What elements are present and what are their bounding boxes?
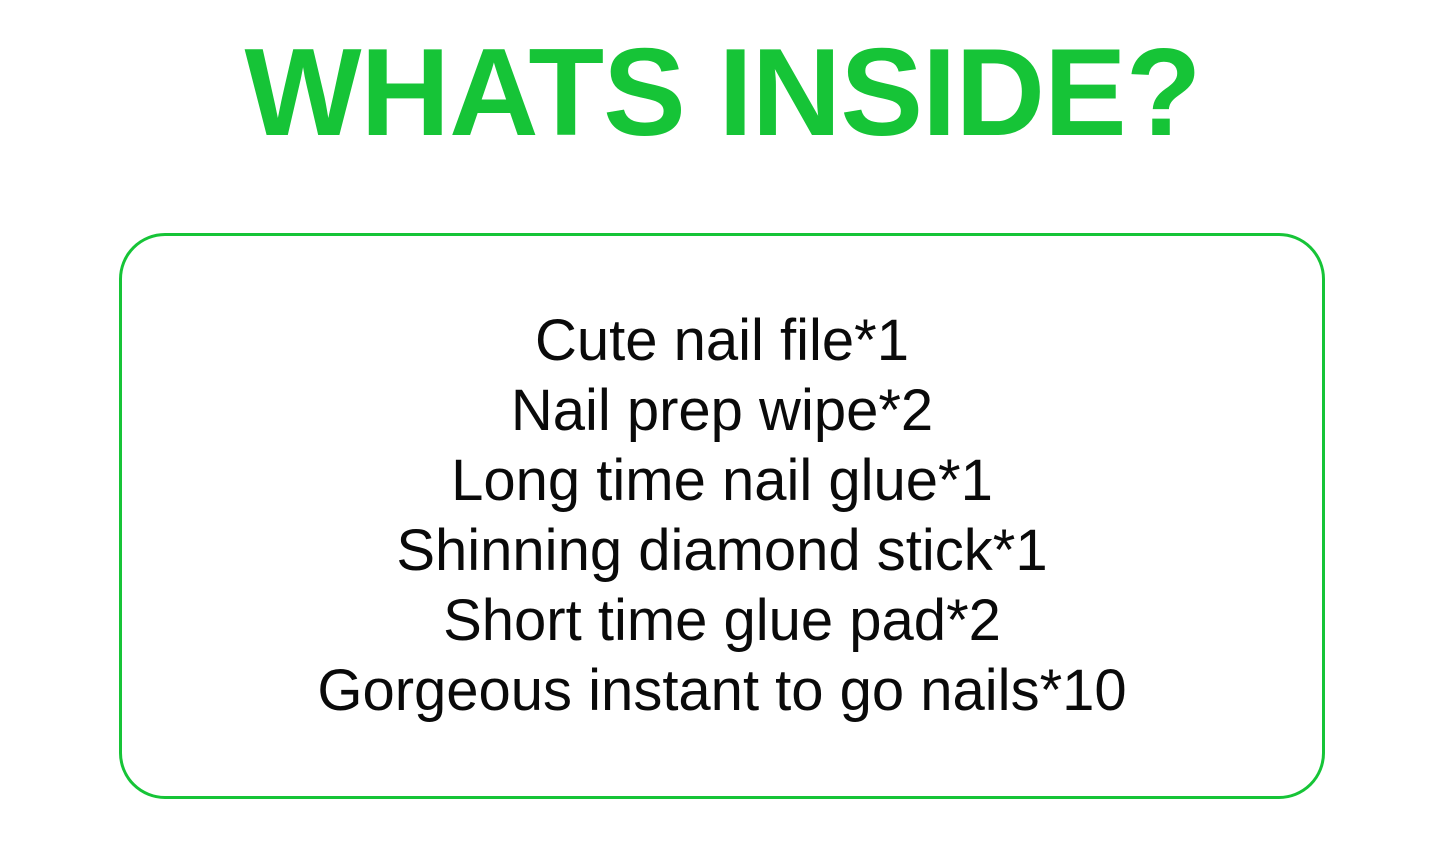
- list-item: Long time nail glue*1: [122, 446, 1322, 516]
- promo-graphic: WHATS INSIDE? Cute nail file*1 Nail prep…: [0, 0, 1445, 861]
- page-title: WHATS INSIDE?: [245, 31, 1201, 155]
- list-item: Cute nail file*1: [122, 306, 1322, 376]
- page-title-container: WHATS INSIDE?: [0, 0, 1445, 185]
- list-item: Shinning diamond stick*1: [122, 516, 1322, 586]
- contents-card: Cute nail file*1 Nail prep wipe*2 Long t…: [119, 233, 1325, 799]
- list-item: Short time glue pad*2: [122, 586, 1322, 656]
- list-item: Gorgeous instant to go nails*10: [122, 656, 1322, 726]
- contents-list: Cute nail file*1 Nail prep wipe*2 Long t…: [122, 306, 1322, 726]
- list-item: Nail prep wipe*2: [122, 376, 1322, 446]
